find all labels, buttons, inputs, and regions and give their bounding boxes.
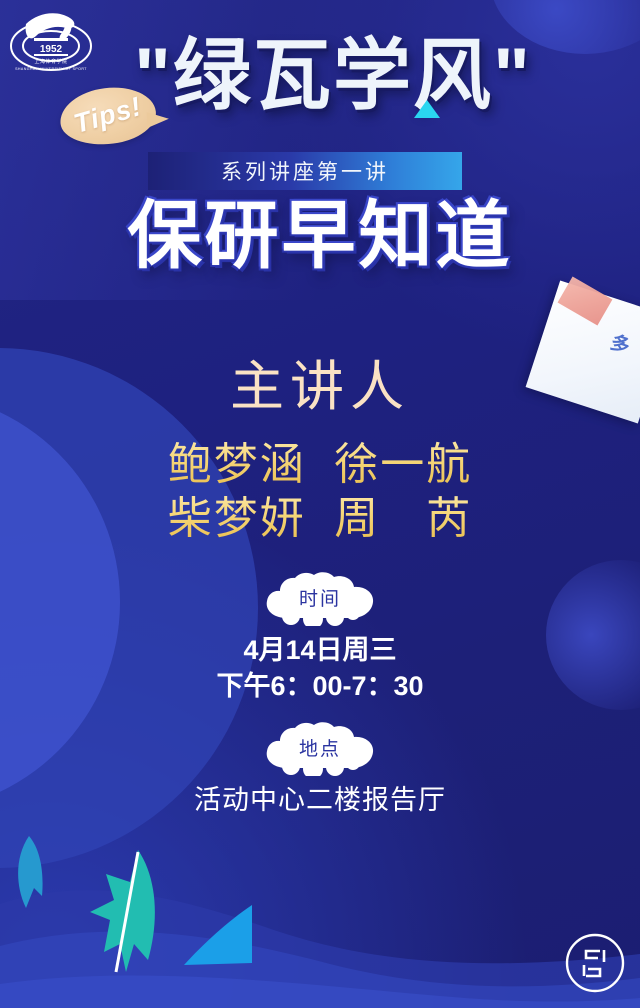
subtitle-banner: 系列讲座第一讲 [148,152,462,190]
decorative-leaf-large [86,848,168,978]
speaker-names-row-2: 柴梦妍 周 芮 [0,482,640,546]
sus-monogram-icon [564,932,626,994]
sus-logo-badge [564,932,626,994]
poster-headline: 保研早知道 [0,196,640,276]
decorative-leaf-triangle [166,905,252,967]
place-cloud-label: 地点 [261,720,379,774]
place-line-1: 活动中心二楼报告厅 [0,778,640,817]
time-line-1: 4月14日周三 [0,628,640,667]
decorative-leaf-small [12,836,46,914]
place-cloud-badge: 地点 [261,722,379,776]
poster-main-title: "绿瓦学风" [0,36,640,114]
time-line-2: 下午6：00-7：30 [0,664,640,703]
time-cloud-badge: 时间 [261,572,379,626]
title-accent-triangle-icon [414,100,440,118]
poster-canvas: 1952 上海体育学院 SHANGHAI UNIVERSITY OF SPORT… [0,0,640,1008]
subtitle-banner-label: 系列讲座第一讲 [221,156,389,186]
time-cloud-label: 时间 [261,570,379,624]
speaker-section-label: 主讲人 [0,342,640,421]
